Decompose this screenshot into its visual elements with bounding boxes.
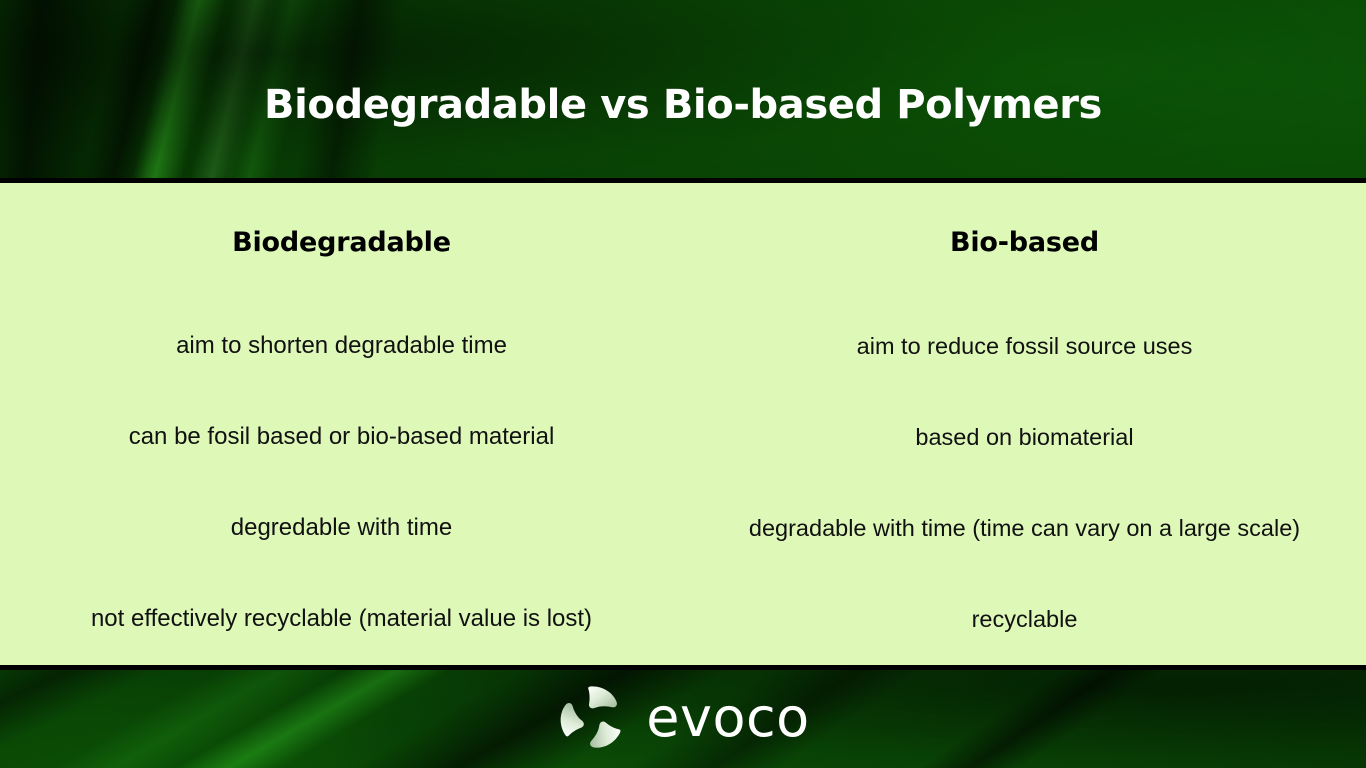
table-cell: can be fosil based or bio-based material	[0, 392, 683, 483]
comparison-table: Biodegradable aim to shorten degradable …	[0, 183, 1366, 665]
evoco-logo-lockup: evoco	[0, 678, 1366, 758]
table-cell: recyclable	[683, 574, 1366, 665]
table-cell: degredable with time	[0, 483, 683, 574]
evoco-wordmark: evoco	[646, 691, 809, 745]
column-biodegradable: Biodegradable aim to shorten degradable …	[0, 183, 683, 665]
column-header-bio-based: Bio-based	[683, 183, 1366, 301]
column-cells-biodegradable: aim to shorten degradable time can be fo…	[0, 301, 683, 665]
table-cell: not effectively recyclable (material val…	[0, 574, 683, 665]
column-bio-based: Bio-based aim to reduce fossil source us…	[683, 183, 1366, 665]
table-cell: aim to reduce fossil source uses	[683, 301, 1366, 392]
column-header-biodegradable: Biodegradable	[0, 183, 683, 301]
table-cell: aim to shorten degradable time	[0, 301, 683, 392]
evoco-recycle-loop-icon	[556, 682, 628, 754]
table-cell: degradable with time (time can vary on a…	[683, 483, 1366, 574]
table-cell: based on biomaterial	[683, 392, 1366, 483]
slide-title: Biodegradable vs Bio-based Polymers	[0, 82, 1366, 128]
column-cells-bio-based: aim to reduce fossil source uses based o…	[683, 301, 1366, 665]
slide-root: Biodegradable vs Bio-based Polymers Biod…	[0, 0, 1366, 768]
